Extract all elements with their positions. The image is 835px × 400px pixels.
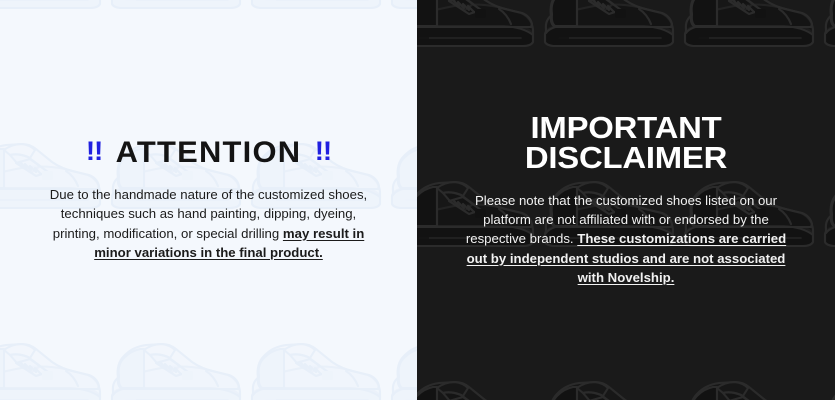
attention-heading-text: ATTENTION — [116, 138, 302, 168]
attention-heading: !! ATTENTION !! — [10, 138, 407, 168]
disclaimer-panel-content: IMPORTANT DISCLAIMER Please note that th… — [417, 113, 835, 287]
double-exclamation-left-icon: !! — [86, 138, 102, 165]
customization-notice-banner: !! ATTENTION !! Due to the handmade natu… — [0, 0, 835, 400]
attention-panel: !! ATTENTION !! Due to the handmade natu… — [0, 0, 417, 400]
double-exclamation-right-icon: !! — [315, 138, 331, 165]
disclaimer-panel: IMPORTANT DISCLAIMER Please note that th… — [417, 0, 835, 400]
attention-body: Due to the handmade nature of the custom… — [50, 185, 368, 262]
disclaimer-heading-line-1: IMPORTANT — [421, 113, 830, 143]
disclaimer-heading-line-2: DISCLAIMER — [421, 143, 830, 173]
disclaimer-body: Please note that the customized shoes li… — [465, 191, 787, 287]
attention-panel-content: !! ATTENTION !! Due to the handmade natu… — [0, 138, 417, 262]
disclaimer-heading: IMPORTANT DISCLAIMER — [421, 113, 830, 174]
